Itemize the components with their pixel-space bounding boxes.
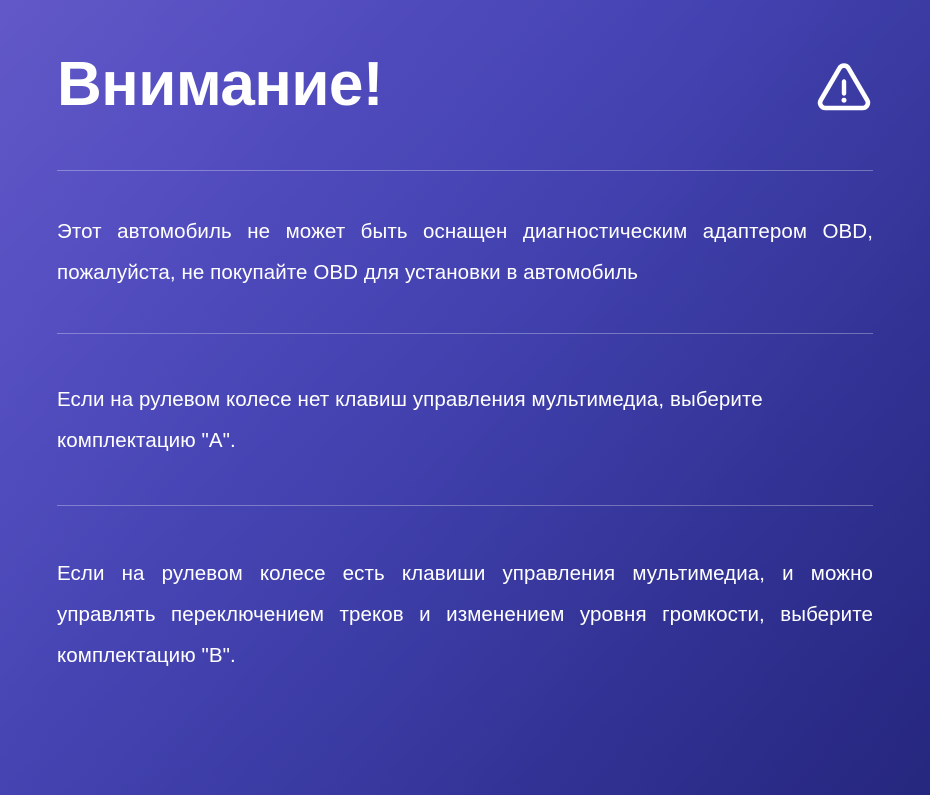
banner-content: Внимание! Этот автомобиль не может быть … [0,0,930,716]
warning-triangle-icon [816,57,873,113]
warning-banner: Внимание! Этот автомобиль не может быть … [0,0,930,795]
notice-item-variant-a: Если на рулевом колесе нет клавиш управл… [57,334,873,505]
notice-item-variant-b: Если на рулевом колесе есть клавиши упра… [57,506,873,716]
notice-text-variant-a: Если на рулевом колесе нет клавиш управл… [57,379,873,461]
notice-item-obd: Этот автомобиль не может быть оснащен ди… [57,171,873,333]
notice-text-variant-b: Если на рулевом колесе есть клавиши упра… [57,553,873,676]
banner-header: Внимание! [57,0,873,170]
notice-text-obd: Этот автомобиль не может быть оснащен ди… [57,211,873,293]
page-title: Внимание! [57,54,383,116]
